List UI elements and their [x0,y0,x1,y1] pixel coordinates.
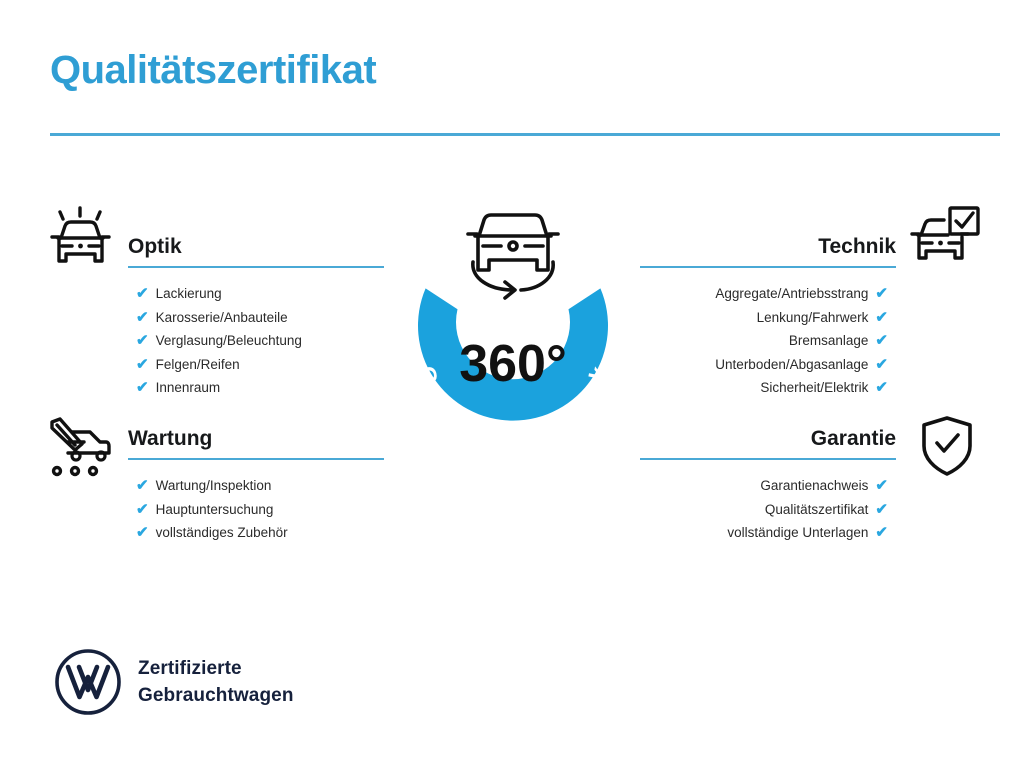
check-icon: ✔ [875,380,888,395]
list-item-label: vollständige Unterlagen [727,521,868,545]
list-item: ✔ Hauptuntersuchung [128,498,384,522]
list-item: vollständige Unterlagen ✔ [640,521,896,545]
check-icon: ✔ [136,525,149,540]
certificate-page: Qualitätszertifikat Optik ✔ [0,0,1024,768]
header-divider [50,133,1000,136]
list-item-label: Unterboden/Abgasanlage [715,353,868,377]
check-icon: ✔ [875,525,888,540]
car-polish-icon [44,204,118,274]
list-item-label: Hauptuntersuchung [156,498,274,522]
section-garantie-list: Garantienachweis ✔ Qualitätszertifikat ✔… [640,460,896,545]
check-icon: ✔ [875,333,888,348]
section-garantie: Garantie Garantienachweis ✔ Qualitätszer… [640,428,896,545]
list-item-label: Qualitätszertifikat [765,498,869,522]
badge-360-check: Gebrauchtwagen-Check 360° [382,196,644,486]
list-item-label: Felgen/Reifen [156,353,240,377]
footer-text-block: Zertifizierte Gebrauchtwagen [138,655,294,709]
footer-line-2: Gebrauchtwagen [138,682,294,709]
check-icon: ✔ [136,478,149,493]
check-icon: ✔ [136,357,149,372]
check-icon: ✔ [875,310,888,325]
list-item: Aggregate/Antriebsstrang ✔ [640,282,896,306]
list-item-label: Wartung/Inspektion [156,474,272,498]
list-item: ✔ Lackierung [128,282,384,306]
check-icon: ✔ [136,380,149,395]
page-title: Qualitätszertifikat [50,48,376,92]
list-item-label: Karosserie/Anbauteile [156,306,288,330]
list-item: Lenkung/Fahrwerk ✔ [640,306,896,330]
list-item: ✔ vollständiges Zubehör [128,521,384,545]
car-service-tool-icon [44,414,118,484]
list-item-label: Verglasung/Beleuchtung [156,329,302,353]
list-item: ✔ Innenraum [128,376,384,400]
section-optik-heading: Optik [128,236,384,266]
shield-check-icon [910,412,984,482]
section-garantie-heading: Garantie [640,428,896,458]
check-icon: ✔ [875,286,888,301]
list-item-label: Garantienachweis [760,474,868,498]
list-item: ✔ Karosserie/Anbauteile [128,306,384,330]
list-item: Garantienachweis ✔ [640,474,896,498]
list-item: Bremsanlage ✔ [640,329,896,353]
badge-center-text: 360° [459,335,567,393]
car-front-rotate-icon [468,215,558,298]
list-item: ✔ Verglasung/Beleuchtung [128,329,384,353]
list-item-label: Lenkung/Fahrwerk [757,306,869,330]
list-item: ✔ Wartung/Inspektion [128,474,384,498]
car-checkbox-icon [908,204,982,274]
volkswagen-footer-lockup: Zertifizierte Gebrauchtwagen [54,648,294,716]
section-wartung-heading: Wartung [128,428,384,458]
check-icon: ✔ [875,478,888,493]
list-item-label: Aggregate/Antriebsstrang [715,282,868,306]
check-icon: ✔ [875,357,888,372]
section-technik-list: Aggregate/Antriebsstrang ✔ Lenkung/Fahrw… [640,268,896,400]
list-item-label: Bremsanlage [789,329,869,353]
check-icon: ✔ [136,502,149,517]
section-wartung: Wartung ✔ Wartung/Inspektion ✔ Hauptunte… [128,428,384,545]
section-technik: Technik Aggregate/Antriebsstrang ✔ Lenku… [640,236,896,400]
list-item: Sicherheit/Elektrik ✔ [640,376,896,400]
list-item-label: Lackierung [156,282,222,306]
check-icon: ✔ [875,502,888,517]
list-item-label: Sicherheit/Elektrik [760,376,868,400]
volkswagen-logo [54,648,122,716]
section-optik: Optik ✔ Lackierung ✔ Karosserie/Anbautei… [128,236,384,400]
list-item: Qualitätszertifikat ✔ [640,498,896,522]
check-icon: ✔ [136,310,149,325]
section-optik-list: ✔ Lackierung ✔ Karosserie/Anbauteile ✔ V… [128,268,384,400]
section-wartung-list: ✔ Wartung/Inspektion ✔ Hauptuntersuchung… [128,460,384,545]
list-item: Unterboden/Abgasanlage ✔ [640,353,896,377]
check-icon: ✔ [136,333,149,348]
section-technik-heading: Technik [640,236,896,266]
check-icon: ✔ [136,286,149,301]
list-item-label: Innenraum [156,376,221,400]
list-item-label: vollständiges Zubehör [156,521,288,545]
footer-line-1: Zertifizierte [138,655,294,682]
list-item: ✔ Felgen/Reifen [128,353,384,377]
